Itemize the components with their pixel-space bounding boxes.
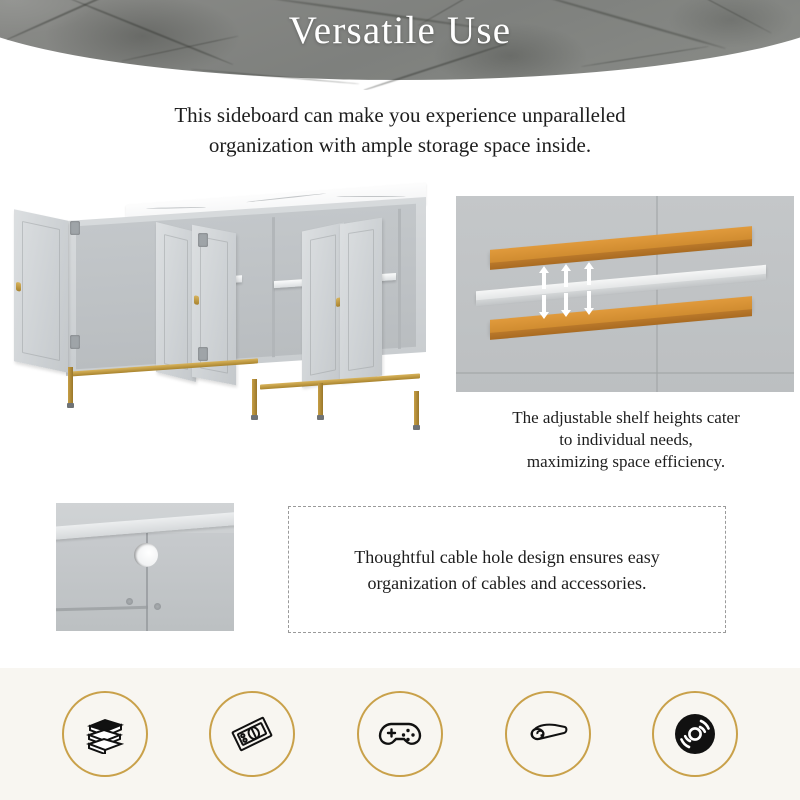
cable-hole-image [56, 503, 234, 631]
shelf-adjust-illustration [456, 196, 794, 392]
intro-line-1: This sideboard can make you experience u… [100, 100, 700, 130]
wood-shelf-lower [490, 296, 752, 334]
product-feature-page: Versatile Use This sideboard can make yo… [0, 0, 800, 800]
arrow-up-icon [584, 262, 594, 286]
usage-icon-strip [0, 668, 800, 800]
page-title: Versatile Use [0, 8, 800, 53]
icon-circle-books [62, 691, 148, 777]
cable-description-box: Thoughtful cable hole design ensures eas… [288, 506, 726, 633]
banknote-icon [230, 712, 274, 756]
cable-text-line-2: organization of cables and accessories. [289, 570, 725, 596]
cabinet-door [14, 209, 68, 372]
intro-text: This sideboard can make you experience u… [100, 100, 700, 160]
shelf-caption-line-2: to individual needs, [452, 429, 800, 451]
screw-icon [126, 598, 133, 605]
icon-circle-game [357, 691, 443, 777]
arrow-down-icon [561, 293, 571, 317]
cable-text-line-1: Thoughtful cable hole design ensures eas… [289, 544, 725, 570]
icon-circle-money [209, 691, 295, 777]
sideboard-product-image [6, 185, 446, 445]
cable-hole [134, 543, 158, 567]
arrow-up-icon [561, 264, 571, 288]
intro-line-2: organization with ample storage space in… [100, 130, 700, 160]
arrow-up-icon [539, 266, 549, 290]
game-controller-icon [377, 717, 423, 751]
arrow-down-icon [584, 291, 594, 315]
books-icon [83, 714, 127, 754]
icon-circle-blanket [505, 691, 591, 777]
shelf-caption-line-1: The adjustable shelf heights cater [452, 407, 800, 429]
wood-shelf-upper [490, 226, 752, 264]
shelf-caption-line-3: maximizing space efficiency. [452, 451, 800, 473]
vinyl-record-icon [671, 710, 719, 758]
cabinet-door [340, 218, 382, 383]
white-shelf-middle [476, 265, 766, 301]
shelf-caption: The adjustable shelf heights cater to in… [452, 407, 800, 473]
cabinet-door [156, 222, 196, 382]
icon-circle-record [652, 691, 738, 777]
gold-leg-frame [68, 361, 418, 419]
arrow-down-icon [539, 295, 549, 319]
rolled-blanket-icon [525, 719, 571, 749]
screw-icon [154, 603, 161, 610]
